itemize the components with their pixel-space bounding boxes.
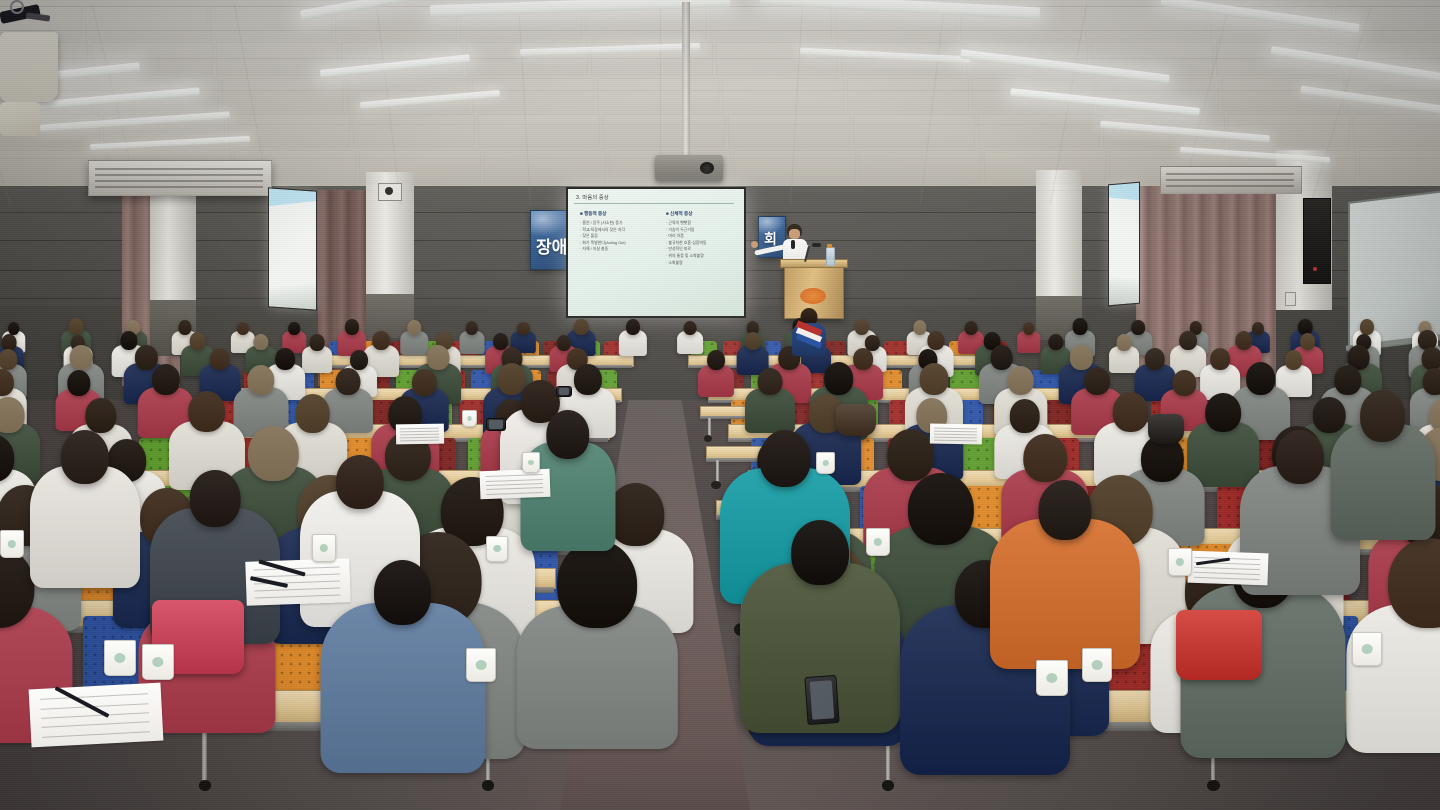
audience-member-foreground <box>30 430 140 610</box>
audience-head <box>758 368 783 395</box>
audience-head <box>210 348 230 370</box>
audience-head <box>345 319 359 334</box>
paper-text-line <box>934 427 977 429</box>
handout-paper <box>480 469 551 499</box>
paper-cup <box>462 410 477 427</box>
paper-text-line <box>934 437 977 439</box>
audience-torso <box>30 466 140 588</box>
paper-text-line <box>400 440 439 442</box>
audience-head <box>574 319 588 335</box>
paper-text-line <box>485 474 542 477</box>
audience-head <box>372 331 390 351</box>
audience-head <box>1008 366 1035 395</box>
audience-head <box>1145 348 1165 370</box>
paper-cup <box>0 530 24 558</box>
audience-head <box>289 322 301 335</box>
paper-text-line <box>255 588 340 592</box>
key-ring <box>0 0 56 32</box>
audience-head <box>908 473 974 546</box>
audience-head <box>336 455 384 509</box>
cup-logo-icon <box>874 538 882 545</box>
audience-member-foreground <box>1330 390 1435 560</box>
audience-head <box>919 363 948 395</box>
audience-head <box>1117 334 1132 350</box>
audience-head <box>412 369 436 395</box>
paper-cup <box>1082 648 1112 682</box>
audience-head <box>517 322 529 335</box>
audience-head <box>61 430 109 484</box>
key-ring-icon <box>10 0 24 14</box>
audience-member <box>745 368 795 438</box>
lecture-hall-photo: 장애 회 3. 마음의 증상 ■ 행동적 증상 · 흡연 / 음주 (사소한) … <box>0 0 1440 810</box>
audience-member <box>459 321 484 356</box>
paper-text-line <box>255 595 340 599</box>
audience-head <box>1300 333 1316 350</box>
audience-head <box>188 391 226 433</box>
draped-cloth <box>0 32 58 102</box>
audience-head <box>310 334 325 350</box>
audience-head <box>855 319 869 335</box>
paper-cup <box>466 648 496 682</box>
key <box>26 12 51 21</box>
audience-head <box>1023 322 1035 335</box>
audience-head <box>824 362 854 395</box>
audience-head <box>927 331 944 350</box>
phone-screen <box>559 388 570 396</box>
audience-member <box>517 540 677 763</box>
audience-member-with-sash <box>792 308 826 356</box>
paper-text-line <box>1194 567 1260 570</box>
audience-head <box>407 320 421 335</box>
paper-text-line <box>1194 572 1260 575</box>
smartphone <box>556 386 572 397</box>
cup-logo-icon <box>476 660 487 670</box>
audience-head <box>1360 319 1374 334</box>
audience-head <box>744 332 760 350</box>
phone-screen <box>809 680 834 720</box>
cup-logo-icon <box>493 545 501 552</box>
paper-cup <box>866 528 890 556</box>
audience-head <box>1073 318 1088 334</box>
handbag <box>836 404 876 436</box>
audience-head <box>190 470 241 527</box>
cup-logo-icon <box>1092 660 1103 670</box>
audience-member-foreground <box>740 520 900 770</box>
paper-cup <box>1036 660 1068 696</box>
audience-head <box>85 398 117 433</box>
audience-head <box>8 322 20 335</box>
audience-head <box>68 318 83 334</box>
paper-text-line <box>40 694 148 701</box>
audience-head <box>546 410 589 459</box>
cup-logo-icon <box>152 657 163 667</box>
paper-text-line <box>934 440 977 442</box>
handout-paper <box>396 424 444 445</box>
audience-head <box>1360 390 1406 442</box>
draped-cloth <box>0 102 40 136</box>
handout-paper <box>29 683 164 748</box>
audience-head <box>67 370 90 396</box>
audience-head <box>1246 362 1276 395</box>
audience-head <box>1009 399 1040 433</box>
audience-head <box>0 349 17 370</box>
audience-member <box>619 319 647 358</box>
audience-head <box>607 483 664 546</box>
smartphone <box>804 675 839 725</box>
cup-logo-icon <box>1046 673 1057 683</box>
paper-cup <box>522 452 540 473</box>
audience-head <box>1131 320 1145 335</box>
paper-text-line <box>400 427 439 429</box>
paper-text-line <box>486 492 543 495</box>
audience-head <box>684 321 697 335</box>
handbag <box>1176 610 1262 680</box>
paper-text-line <box>1194 577 1260 580</box>
audience-head <box>1206 393 1242 432</box>
cup-logo-icon <box>822 460 828 466</box>
cup-logo-icon <box>8 540 16 547</box>
paper-text-line <box>42 731 150 738</box>
paper-text-line <box>934 430 977 432</box>
audience-torso <box>619 330 647 355</box>
audience-member <box>698 350 734 400</box>
paper-cup <box>1352 632 1382 666</box>
cup-logo-icon <box>467 416 472 420</box>
audience-head <box>466 321 478 335</box>
audience-head <box>336 368 361 395</box>
cup-logo-icon <box>528 460 534 465</box>
paper-text-line <box>41 712 149 719</box>
handout-paper <box>1187 551 1268 586</box>
cup-logo-icon <box>320 544 328 551</box>
audience-head <box>427 345 450 370</box>
smartphone <box>486 418 506 431</box>
paper-cup <box>1168 548 1192 576</box>
paper-text-line <box>400 437 439 439</box>
audience-head <box>374 560 432 625</box>
paper-text-line <box>485 479 542 482</box>
audience-head <box>0 397 24 433</box>
audience-torso <box>320 603 485 773</box>
audience-head <box>1179 331 1197 351</box>
audience-head <box>1422 347 1440 370</box>
cup-logo-icon <box>1176 558 1184 565</box>
audience-head <box>1038 480 1091 540</box>
paper-text-line <box>486 483 543 486</box>
cup-logo-icon <box>1362 644 1373 654</box>
audience-head <box>1112 392 1149 432</box>
paper-cup <box>312 534 336 562</box>
audience-head <box>1276 430 1324 484</box>
paper-text-line <box>934 434 977 436</box>
paper-text-line <box>400 434 439 436</box>
paper-cup <box>816 452 835 474</box>
audience-head <box>1173 370 1196 396</box>
audience-head <box>626 319 640 334</box>
phone-screen <box>489 420 503 429</box>
audience-head <box>707 350 725 370</box>
audience-head <box>70 345 93 370</box>
paper-cup <box>104 640 136 676</box>
audience-head <box>1070 345 1092 369</box>
audience-head <box>1210 348 1230 370</box>
paper-text-line <box>400 430 439 432</box>
handout-paper <box>930 424 982 445</box>
audience-head <box>791 520 849 585</box>
handbag <box>1148 414 1184 444</box>
cup-logo-icon <box>114 653 125 663</box>
paper-cup <box>486 536 508 562</box>
paper-text-line <box>41 721 149 728</box>
audience-torso <box>990 519 1140 669</box>
audience-head <box>760 430 811 487</box>
paper-text-line <box>486 487 543 490</box>
paper-cup <box>142 644 174 680</box>
audience-head <box>247 365 274 395</box>
